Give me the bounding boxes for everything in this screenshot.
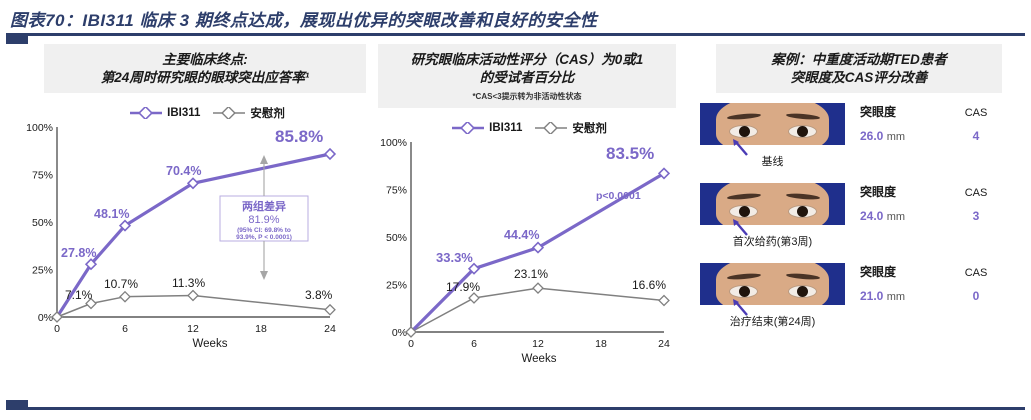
chart-2-drug-labels: 33.3% 44.4% 83.5% xyxy=(436,144,654,265)
svg-text:70.4%: 70.4% xyxy=(166,164,201,178)
legend-label-placebo: 安慰剂 xyxy=(250,105,285,121)
svg-text:11.3%: 11.3% xyxy=(172,276,205,290)
svg-text:7.1%: 7.1% xyxy=(65,288,93,302)
svg-text:10.7%: 10.7% xyxy=(104,277,138,291)
svg-text:18: 18 xyxy=(255,323,267,335)
svg-text:0%: 0% xyxy=(392,327,407,339)
metric-header-proptosis: 突眼度 xyxy=(860,103,948,120)
svg-text:0: 0 xyxy=(408,338,414,350)
chart-primary-endpoint: 100% 75% 50% 25% 0% 0 6 12 18 24 xyxy=(20,121,370,350)
metric-header-cas: CAS xyxy=(948,107,1004,119)
panel-case-study: 案例：中重度活动期TED患者 突眼度及CAS评分改善 基线 突眼度 CAS xyxy=(700,44,1020,400)
chart-1-placebo-labels: 7.1% 10.7% 11.3% 3.8% xyxy=(65,276,333,302)
svg-text:25%: 25% xyxy=(386,280,407,292)
patient-eye-photo xyxy=(700,103,845,145)
legend-label-ibi311: IBI311 xyxy=(167,107,200,119)
callout-ci-line2: 93.9%, P < 0.0001) xyxy=(236,234,292,241)
metric-header-cas: CAS xyxy=(948,187,1004,199)
svg-text:0: 0 xyxy=(54,323,60,335)
metric-value-proptosis: 24.0 xyxy=(860,209,883,223)
svg-text:18: 18 xyxy=(595,338,607,350)
svg-text:50%: 50% xyxy=(32,217,53,229)
chart-2-x-ticklabels: 0 6 12 18 24 xyxy=(408,338,670,350)
chart-1-y-ticklabels: 100% 75% 50% 25% 0% xyxy=(26,122,53,324)
svg-text:50%: 50% xyxy=(386,232,407,244)
panel-2-header: 研究眼临床活动性评分（CAS）为0或1 的受试者百分比 *CAS<3提示转为非活… xyxy=(378,44,676,108)
chart-2-y-ticklabels: 100% 75% 50% 25% 0% xyxy=(380,137,407,339)
callout-ci-line1: (95% CI: 69.8% to xyxy=(237,227,291,234)
case-metrics: 突眼度 CAS 21.0 mm 0 xyxy=(860,263,1010,303)
chart-2-pvalue-annotation: p<0.0001 xyxy=(596,190,641,202)
footer-divider xyxy=(6,407,1025,410)
legend-item-ibi311-2: IBI311 xyxy=(451,122,522,134)
svg-text:44.4%: 44.4% xyxy=(504,228,539,242)
page-title: 图表70：IBI311 临床 3 期终点达成，展现出优异的突眼改善和良好的安全性 xyxy=(10,6,597,31)
chart-2-drug-markers xyxy=(469,169,669,274)
svg-text:100%: 100% xyxy=(380,137,407,149)
legend-item-placebo: 安慰剂 xyxy=(212,105,285,121)
panel-3-header: 案例：中重度活动期TED患者 突眼度及CAS评分改善 xyxy=(716,44,1002,93)
patient-eye-photo xyxy=(700,263,845,305)
svg-text:12: 12 xyxy=(187,323,199,335)
svg-text:24: 24 xyxy=(324,323,336,335)
metric-value-cas: 4 xyxy=(948,129,1004,143)
svg-text:6: 6 xyxy=(471,338,477,350)
legend-marker-drug-icon xyxy=(451,122,485,134)
legend-label-placebo-2: 安慰剂 xyxy=(572,120,607,136)
case-metrics: 突眼度 CAS 26.0 mm 4 xyxy=(860,103,1010,143)
metric-value-cas: 3 xyxy=(948,209,1004,223)
panel-3-title-line1: 案例：中重度活动期TED患者 xyxy=(720,51,998,69)
panel-1-title-line2: 第24周时研究眼的眼球突出应答率¹ xyxy=(48,69,362,87)
svg-text:83.5%: 83.5% xyxy=(606,144,654,163)
legend-label-ibi311-2: IBI311 xyxy=(489,122,522,134)
case-row: 治疗结束(第24周) 突眼度 CAS 21.0 mm 0 xyxy=(700,263,1020,343)
case-row-list: 基线 突眼度 CAS 26.0 mm 4 xyxy=(700,103,1020,343)
callout-value: 81.9% xyxy=(248,214,279,226)
svg-text:85.8%: 85.8% xyxy=(275,127,323,146)
callout-heading: 两组差异 xyxy=(242,199,286,213)
metric-unit-proptosis: mm xyxy=(887,211,905,223)
chart-1-x-axis-title: Weeks xyxy=(20,338,370,350)
metric-unit-proptosis: mm xyxy=(887,291,905,303)
chart-2-x-axis-title: Weeks xyxy=(374,353,694,365)
chart-cas-response: 100% 75% 50% 25% 0% 0 6 12 18 24 xyxy=(374,136,694,365)
svg-text:23.1%: 23.1% xyxy=(514,267,548,281)
case-metrics: 突眼度 CAS 24.0 mm 3 xyxy=(860,183,1010,223)
panel-cas-response: 研究眼临床活动性评分（CAS）为0或1 的受试者百分比 *CAS<3提示转为非活… xyxy=(374,44,694,400)
chart-2-svg: 100% 75% 50% 25% 0% 0 6 12 18 24 xyxy=(374,136,694,351)
panel-1-header: 主要临床终点: 第24周时研究眼的眼球突出应答率¹ xyxy=(44,44,366,93)
title-divider xyxy=(6,33,1025,36)
svg-text:3.8%: 3.8% xyxy=(305,288,333,302)
panel-2-title-line2: 的受试者百分比 xyxy=(382,69,672,87)
panel-primary-endpoint: 主要临床终点: 第24周时研究眼的眼球突出应答率¹ IBI311 安慰剂 xyxy=(20,44,370,400)
svg-text:12: 12 xyxy=(532,338,544,350)
metric-header-proptosis: 突眼度 xyxy=(860,263,948,280)
title-accent-tab xyxy=(6,36,28,44)
title-bar: 图表70：IBI311 临床 3 期终点达成，展现出优异的突眼改善和良好的安全性 xyxy=(0,0,1031,40)
svg-text:27.8%: 27.8% xyxy=(61,246,96,260)
metric-unit-proptosis: mm xyxy=(887,131,905,143)
legend-item-placebo-2: 安慰剂 xyxy=(534,120,607,136)
legend-item-ibi311: IBI311 xyxy=(129,107,200,119)
svg-text:24: 24 xyxy=(658,338,670,350)
svg-text:6: 6 xyxy=(122,323,128,335)
svg-text:16.6%: 16.6% xyxy=(632,278,666,292)
chart-1-x-ticklabels: 0 6 12 18 24 xyxy=(54,323,336,335)
legend-marker-drug-icon xyxy=(129,107,163,119)
metric-header-proptosis: 突眼度 xyxy=(860,183,948,200)
svg-text:33.3%: 33.3% xyxy=(436,250,473,265)
case-row: 基线 突眼度 CAS 26.0 mm 4 xyxy=(700,103,1020,183)
svg-text:0%: 0% xyxy=(38,312,53,324)
case-caption: 基线 xyxy=(700,153,845,169)
legend-marker-placebo-icon xyxy=(212,107,246,119)
panel-2-subtitle: *CAS<3提示转为非活动性状态 xyxy=(382,91,672,102)
svg-text:75%: 75% xyxy=(32,170,53,182)
case-caption: 首次给药(第3周) xyxy=(700,233,845,249)
legend-marker-placebo-icon xyxy=(534,122,568,134)
chart-1-svg: 100% 75% 50% 25% 0% 0 6 12 18 24 xyxy=(20,121,370,336)
svg-text:48.1%: 48.1% xyxy=(94,207,129,221)
svg-text:25%: 25% xyxy=(32,265,53,277)
patient-eye-photo xyxy=(700,183,845,225)
panel-1-legend: IBI311 安慰剂 xyxy=(44,105,370,121)
panel-1-title-line1: 主要临床终点: xyxy=(48,51,362,69)
metric-value-proptosis: 26.0 xyxy=(860,129,883,143)
case-row: 首次给药(第3周) 突眼度 CAS 24.0 mm 3 xyxy=(700,183,1020,263)
svg-text:100%: 100% xyxy=(26,122,53,134)
metric-value-cas: 0 xyxy=(948,289,1004,303)
svg-text:17.9%: 17.9% xyxy=(446,280,480,294)
metric-header-cas: CAS xyxy=(948,267,1004,279)
panel-2-title-line1: 研究眼临床活动性评分（CAS）为0或1 xyxy=(382,51,672,69)
panel-3-title-line2: 突眼度及CAS评分改善 xyxy=(720,69,998,87)
svg-text:75%: 75% xyxy=(386,185,407,197)
panel-2-legend: IBI311 安慰剂 xyxy=(374,120,684,136)
case-caption: 治疗结束(第24周) xyxy=(700,313,845,329)
metric-value-proptosis: 21.0 xyxy=(860,289,883,303)
